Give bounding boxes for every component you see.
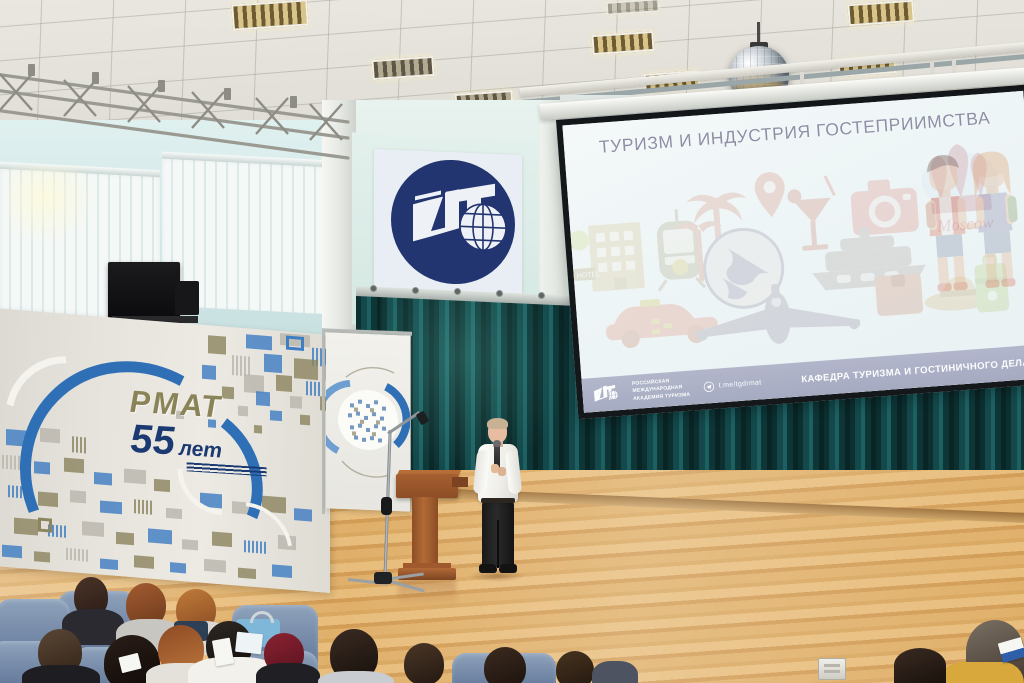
recessed-light-panel — [231, 0, 309, 31]
stage-monitor-equipment — [108, 262, 180, 318]
footer-telegram-handle: t.me/tgdrmat — [718, 379, 761, 389]
wooden-lectern — [396, 474, 458, 498]
presentation-slide: ТУРИЗМ И ИНДУСТРИЯ ГОСТЕПРИИМСТВА H — [562, 91, 1024, 413]
traveler-man-icon — [922, 154, 972, 293]
recessed-light-panel — [847, 0, 914, 26]
banner-anniversary-word: лет — [179, 437, 223, 464]
presenter — [466, 420, 526, 580]
window-light-bloom — [8, 166, 98, 246]
location-pin-icon — [754, 171, 787, 218]
taxi-car-icon — [604, 295, 719, 350]
audience-member — [556, 651, 594, 683]
pull-down-projection-screen[interactable]: ТУРИЗМ И ИНДУСТРИЯ ГОСТЕПРИИМСТВА H — [556, 84, 1024, 419]
floor-power-outlet[interactable] — [818, 658, 846, 680]
suitcase-icon — [875, 273, 924, 316]
audience-member — [484, 647, 526, 683]
footer-academy-name: РОССИЙСКАЯ МЕЖДУНАРОДНАЯ АКАДЕМИЯ ТУРИЗМ… — [632, 377, 691, 403]
audience-member-shoulders — [592, 661, 638, 683]
held-hands — [963, 223, 979, 230]
audience-member — [404, 643, 444, 683]
mic-height-knob[interactable] — [381, 497, 392, 515]
banner-anniversary-number: 55 — [130, 420, 175, 461]
presenter-leg-seam — [497, 520, 499, 568]
presenter-hand — [498, 467, 506, 476]
audience-seating — [0, 565, 720, 683]
rmat-footer-logo — [592, 384, 619, 404]
telegram-icon — [703, 380, 715, 392]
banner-title-block: РМАТ 55 лет — [129, 384, 266, 477]
footer-telegram[interactable]: t.me/tgdrmat — [703, 377, 762, 392]
rollup-banner-pole — [322, 330, 325, 514]
hotel-icon: HOTEL — [568, 222, 645, 293]
curtain-hook — [370, 285, 377, 292]
conference-hall-photo: ТУРИЗМ И ИНДУСТРИЯ ГОСТЕПРИИМСТВА H — [0, 0, 1024, 683]
presenter-belt — [481, 498, 515, 503]
presenter-hair — [487, 418, 508, 429]
audience-member-shoulders — [318, 671, 394, 683]
footer-department-name: КАФЕДРА ТУРИЗМА И ГОСТИНИЧНОГО ДЕЛА — [801, 356, 1024, 384]
traveler-woman-icon — [972, 150, 1023, 289]
traveler-couple-illustration — [916, 147, 1024, 304]
handout-leaflet[interactable] — [235, 632, 263, 655]
lighting-truss — [0, 50, 350, 170]
audience-member-shoulders — [22, 665, 100, 683]
curtain-hook — [412, 287, 419, 294]
cocktail-icon — [786, 175, 838, 251]
rmat-logo-mark — [391, 157, 515, 286]
camera-icon — [849, 177, 919, 236]
lectern-column — [412, 497, 438, 571]
microphone-capsule — [493, 440, 501, 447]
audience-member-shoulders — [940, 662, 1024, 683]
audience-member — [894, 648, 946, 683]
equipment-case — [175, 281, 199, 315]
audience-member-shoulders — [256, 663, 320, 683]
